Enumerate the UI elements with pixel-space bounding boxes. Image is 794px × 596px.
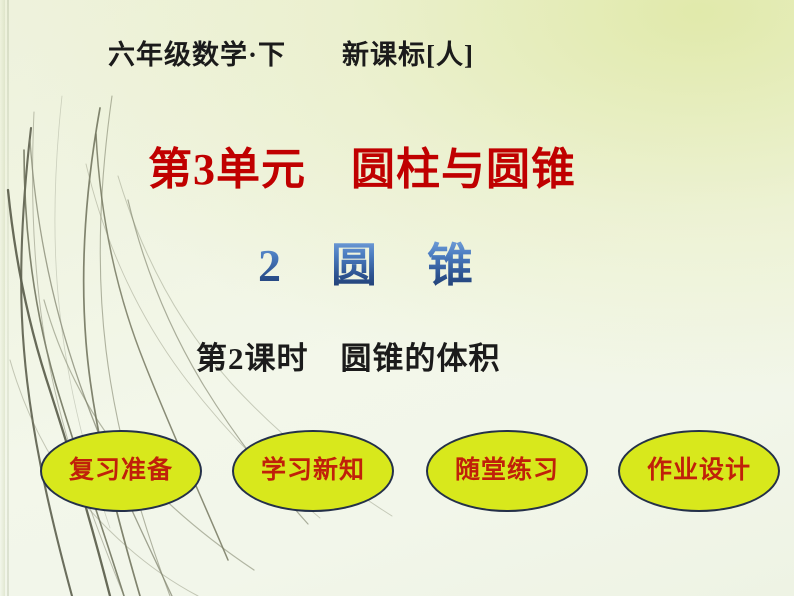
- nav-button-homework[interactable]: 作业设计: [618, 430, 780, 512]
- course-header: 六年级数学·下 新课标[人]: [108, 38, 474, 72]
- nav-button-homework-label: 作业设计: [647, 456, 751, 486]
- nav-button-new-lesson-label: 学习新知: [261, 456, 365, 486]
- nav-button-practice-label: 随堂练习: [455, 456, 559, 486]
- navigation-buttons: 复习准备 学习新知 随堂练习 作业设计: [0, 428, 794, 518]
- nav-button-review[interactable]: 复习准备: [40, 430, 202, 512]
- lesson-title: 第2课时 圆锥的体积: [196, 338, 501, 380]
- presentation-slide: 六年级数学·下 新课标[人] 第3单元 圆柱与圆锥 2 圆 锥 第2课时 圆锥的…: [0, 0, 794, 596]
- nav-button-practice[interactable]: 随堂练习: [426, 430, 588, 512]
- unit-title: 第3单元 圆柱与圆锥: [148, 142, 576, 198]
- nav-button-new-lesson[interactable]: 学习新知: [232, 430, 394, 512]
- section-title: 2 圆 锥: [258, 236, 475, 296]
- nav-button-review-label: 复习准备: [69, 456, 173, 486]
